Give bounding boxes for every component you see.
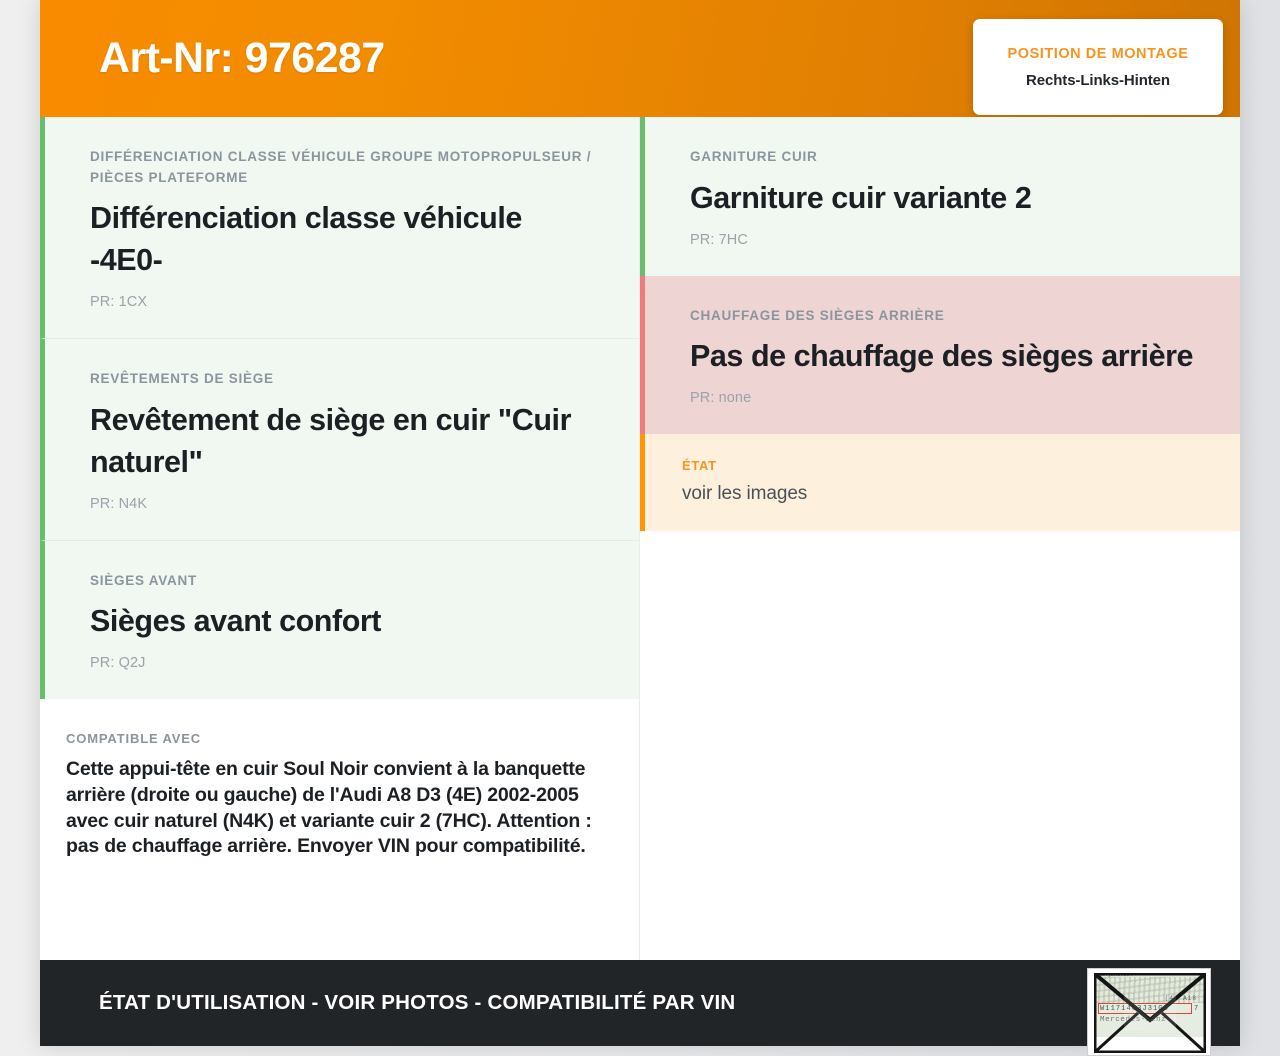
spec-pr-code: PR: N4K <box>90 496 597 512</box>
spec-value: Différenciation classe véhicule -4E0- <box>90 197 597 281</box>
spec-card-vehicle-class: DIFFÉRENCIATION CLASSE VÉHICULE GROUPE M… <box>40 117 639 338</box>
spec-pr-code: PR: 7HC <box>690 232 1198 248</box>
vin-envelope-thumbnail[interactable]: Fahrgestellnr. (4) A18 W1171463J31G8 7 M… <box>1087 968 1211 1056</box>
page-title: Art-Nr: 976287 <box>99 34 385 83</box>
spec-card-condition: ÉTAT voir les images <box>640 434 1240 531</box>
mounting-position-badge: POSITION DE MONTAGE Rechts-Links-Hinten <box>973 19 1223 115</box>
spec-card-rear-seat-heating: CHAUFFAGE DES SIÈGES ARRIÈRE Pas de chau… <box>640 276 1240 435</box>
mounting-position-value: Rechts-Links-Hinten <box>1026 72 1170 89</box>
condition-value: voir les images <box>682 481 1198 507</box>
right-spec-column: GARNITURE CUIR Garniture cuir variante 2… <box>640 117 1240 960</box>
spec-columns: DIFFÉRENCIATION CLASSE VÉHICULE GROUPE M… <box>40 117 1240 960</box>
spec-category: SIÈGES AVANT <box>90 571 597 592</box>
envelope-icon <box>1094 973 1206 1053</box>
spec-value: Pas de chauffage des sièges arrière <box>690 335 1198 377</box>
spec-category: CHAUFFAGE DES SIÈGES ARRIÈRE <box>690 306 1198 327</box>
spec-category: GARNITURE CUIR <box>690 147 1198 168</box>
spec-category: REVÊTEMENTS DE SIÈGE <box>90 369 597 390</box>
spec-category: DIFFÉRENCIATION CLASSE VÉHICULE GROUPE M… <box>90 147 597 188</box>
compatibility-block: COMPATIBLE AVEC Cette appui-tête en cuir… <box>40 699 639 889</box>
footer-slogan: ÉTAT D'UTILISATION - VOIR PHOTOS - COMPA… <box>99 991 735 1015</box>
spec-value: Revêtement de siège en cuir "Cuir nature… <box>90 399 597 483</box>
left-spec-column: DIFFÉRENCIATION CLASSE VÉHICULE GROUPE M… <box>40 117 640 960</box>
compatibility-text: Cette appui-tête en cuir Soul Noir convi… <box>66 757 599 859</box>
spec-pr-code: PR: Q2J <box>90 655 597 671</box>
spec-card-leather-trim: GARNITURE CUIR Garniture cuir variante 2… <box>640 117 1240 276</box>
spec-pr-code: PR: none <box>690 390 1198 406</box>
mounting-position-label: POSITION DE MONTAGE <box>1008 46 1189 62</box>
product-detail-sheet: Art-Nr: 976287 POSITION DE MONTAGE Recht… <box>40 0 1240 1046</box>
footer-bar: ÉTAT D'UTILISATION - VOIR PHOTOS - COMPA… <box>40 960 1240 1046</box>
spec-card-front-seats: SIÈGES AVANT Sièges avant confort PR: Q2… <box>40 540 639 700</box>
compatibility-label: COMPATIBLE AVEC <box>66 731 599 746</box>
spec-value: Sièges avant confort <box>90 600 597 642</box>
spec-value: Garniture cuir variante 2 <box>690 177 1198 219</box>
header-bar: Art-Nr: 976287 POSITION DE MONTAGE Recht… <box>40 0 1240 117</box>
spec-card-seat-covering: REVÊTEMENTS DE SIÈGE Revêtement de siège… <box>40 338 639 540</box>
condition-label: ÉTAT <box>682 456 1198 476</box>
spec-pr-code: PR: 1CX <box>90 294 597 310</box>
